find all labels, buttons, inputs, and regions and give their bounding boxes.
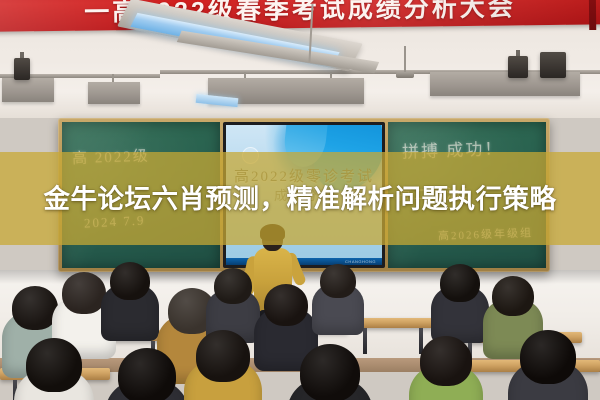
audience-member-head [196,330,250,382]
audience-member-head [26,338,82,392]
audience-member-head [62,272,106,314]
audience-member-head [118,348,176,400]
audience-member-head [320,264,356,298]
overlay-title-text: 金牛论坛六肖预测，精准解析问题执行策略 [0,154,600,244]
photo-scene: 一高2022级春季考试成绩分析大会 [0,0,600,400]
audience-member-head [420,336,472,386]
screenshot-root: 一高2022级春季考试成绩分析大会 [0,0,600,400]
audience-member-head [264,284,308,326]
audience-member-head [300,344,360,400]
audience-member-head [110,262,150,300]
audience-member-head [440,264,480,302]
audience-member-head [492,276,534,316]
audience-member-head [12,286,58,330]
audience-member-head [214,268,252,304]
audience-member-head [520,330,576,384]
